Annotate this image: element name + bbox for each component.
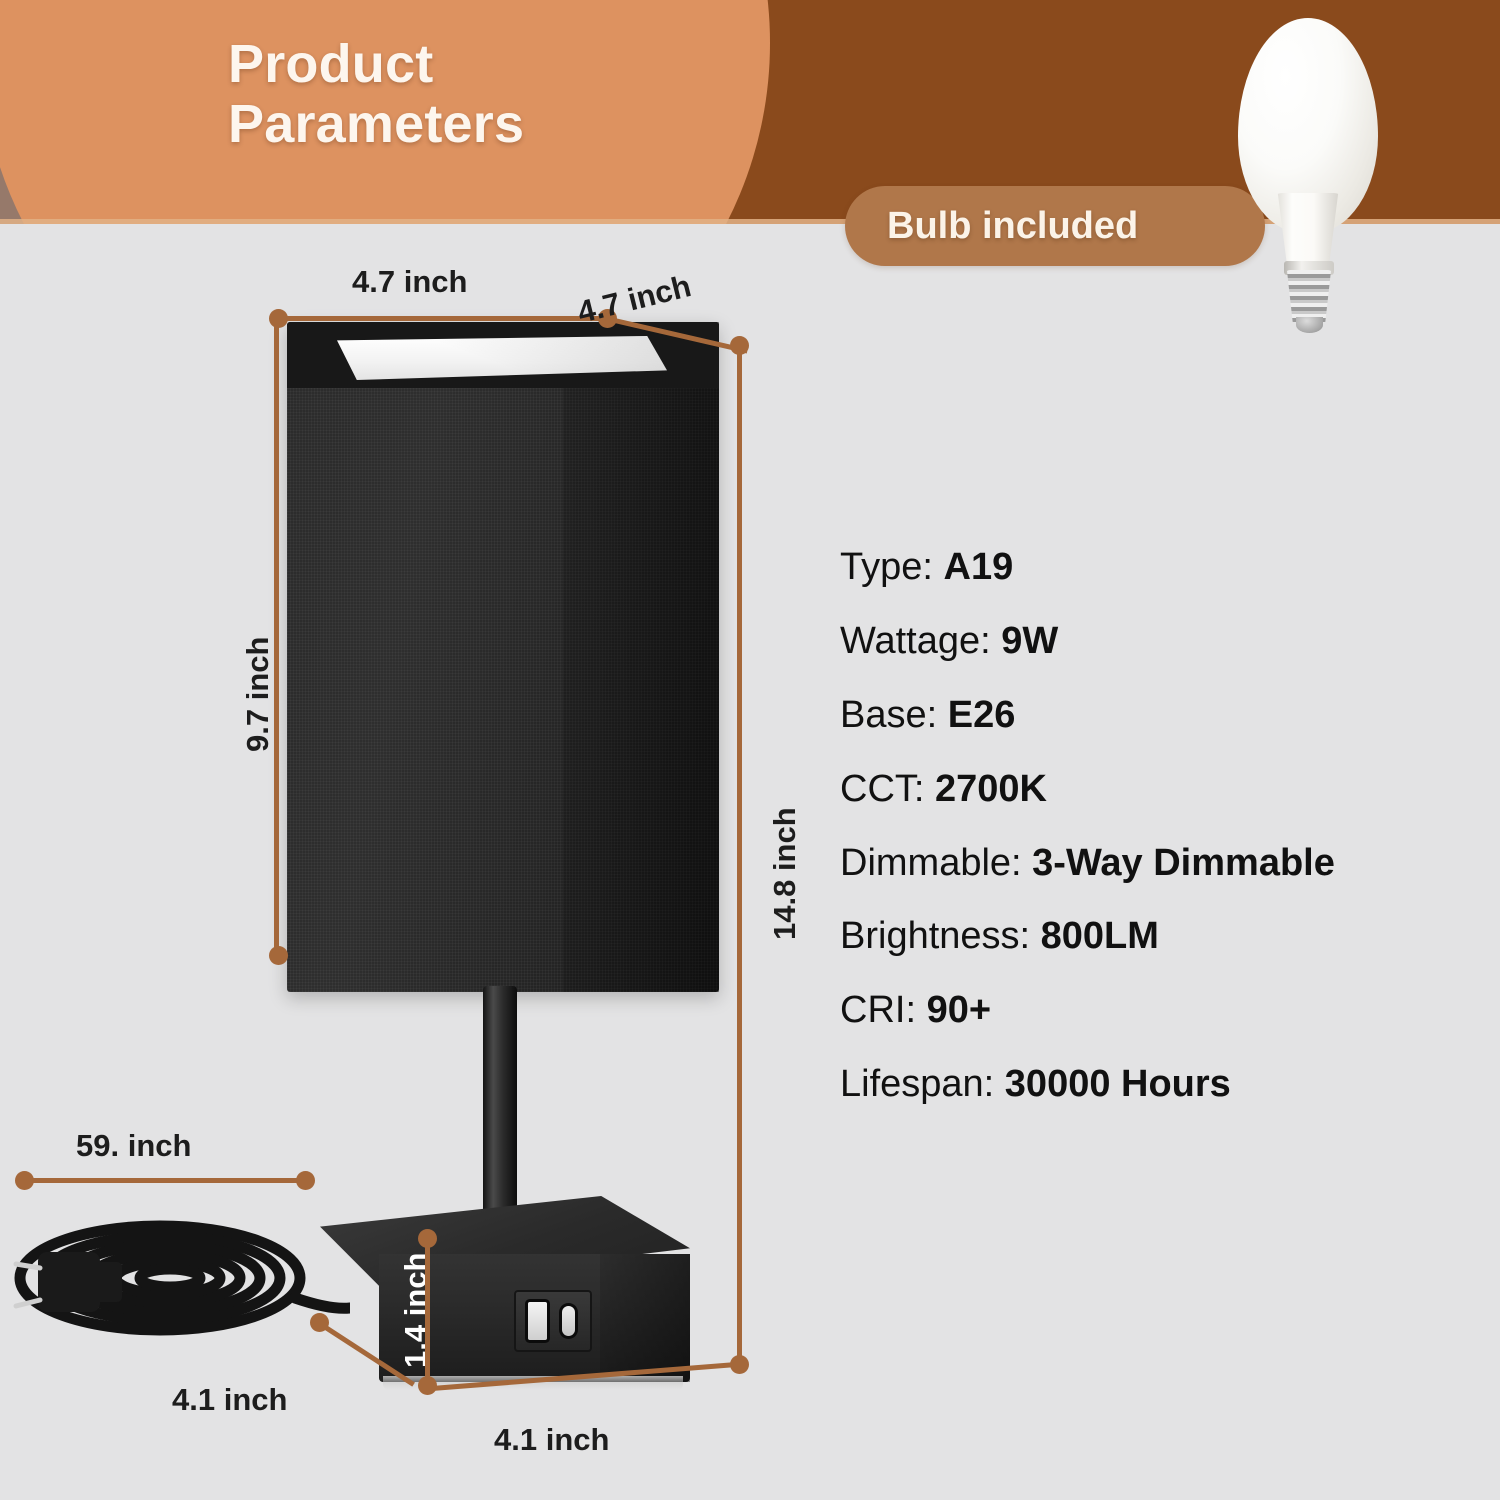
spec-key: CRI: [840, 989, 916, 1031]
spec-key: Base: [840, 694, 937, 736]
spec-value: A19 [944, 546, 1014, 588]
spec-key: Lifespan: [840, 1063, 994, 1105]
spec-value: 800LM [1041, 915, 1159, 957]
dim-dot-base-height-top [418, 1229, 437, 1248]
dim-line-base-height [425, 1235, 430, 1385]
dim-label-cord-length: 59. inch [76, 1128, 191, 1164]
spec-key: Brightness: [840, 915, 1030, 957]
dim-line-total-height [737, 345, 742, 1365]
bulb-included-label: Bulb included [887, 205, 1138, 248]
lamp-shade-right-face [563, 322, 719, 992]
lamp-shade [287, 322, 719, 992]
spec-value: 30000 Hours [1005, 1063, 1231, 1105]
dim-line-cord-length [22, 1178, 312, 1183]
spec-row: Base: E26 [840, 696, 1490, 736]
spec-value: 90+ [927, 989, 991, 1031]
spec-value: 9W [1001, 620, 1058, 662]
spec-row: CCT: 2700K [840, 770, 1490, 810]
dim-label-base-width: 4.1 inch [494, 1422, 609, 1458]
spec-key: Wattage: [840, 620, 991, 662]
lamp-neck-pole [483, 986, 517, 1241]
bulb-contact-tip [1296, 317, 1323, 333]
infographic-canvas: Product Parameters Bulb included [0, 0, 1500, 1500]
dim-label-total-height: 14.8 inch [767, 807, 803, 940]
spec-value: 2700K [935, 768, 1047, 810]
bulb-included-badge: Bulb included [845, 186, 1265, 266]
dim-dot-cord-right [296, 1171, 315, 1190]
dim-label-shade-height: 9.7 inch [240, 637, 276, 752]
spec-key: CCT: [840, 768, 924, 810]
spec-key: Dimmable: [840, 842, 1022, 884]
dim-dot-shade-bottomleft [269, 946, 288, 965]
spec-row: Lifespan: 30000 Hours [840, 1065, 1490, 1105]
bulb-screw-base [1285, 270, 1333, 322]
lamp-base-right-face [600, 1254, 690, 1382]
spec-row: Type: A19 [840, 548, 1490, 588]
power-cord-coil [0, 1190, 350, 1370]
dim-line-shade-width-left [278, 316, 608, 321]
spec-row: Wattage: 9W [840, 622, 1490, 662]
page-title: Product Parameters [228, 34, 524, 155]
dim-dot-base-depth-left [310, 1313, 329, 1332]
usb-port-plate [514, 1290, 592, 1352]
spec-row: CRI: 90+ [840, 991, 1490, 1031]
light-bulb-icon [1230, 18, 1390, 338]
dim-label-shade-width-left: 4.7 inch [352, 264, 467, 300]
dim-label-base-depth: 4.1 inch [172, 1382, 287, 1418]
usb-c-port-icon [562, 1306, 575, 1336]
dim-dot-cord-left [15, 1171, 34, 1190]
spec-row: Dimmable: 3-Way Dimmable [840, 844, 1490, 884]
spec-value: E26 [948, 694, 1016, 736]
spec-list: Type: A19 Wattage: 9W Base: E26 CCT: 270… [840, 548, 1490, 1139]
spec-value: 3-Way Dimmable [1032, 842, 1335, 884]
usb-a-port-icon [528, 1302, 547, 1340]
spec-key: Type: [840, 546, 933, 588]
spec-row: Brightness: 800LM [840, 917, 1490, 957]
